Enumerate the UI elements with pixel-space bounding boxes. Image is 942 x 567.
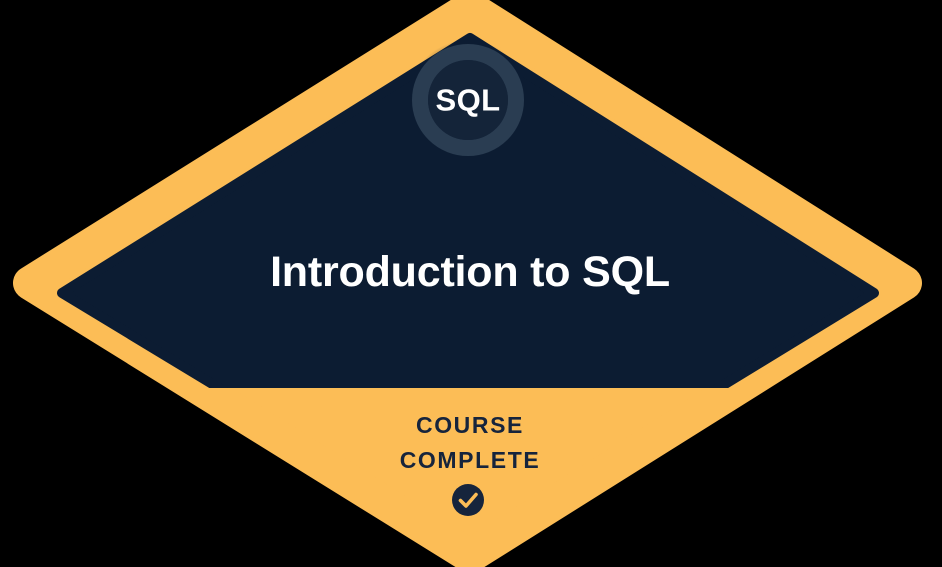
sql-tag-badge[interactable]: SQL — [408, 40, 528, 160]
course-title: Introduction to SQL — [270, 248, 670, 296]
status-line-primary: COURSE — [416, 412, 524, 438]
completion-check-badge — [452, 484, 484, 516]
check-icon-background — [452, 484, 484, 516]
sql-tag-label: SQL — [436, 83, 501, 118]
status-line-secondary: COMPLETE — [400, 447, 541, 473]
course-completion-badge[interactable]: SQL Introduction to SQL COURSE COMPLETE — [0, 0, 942, 567]
certificate-badge-canvas: SQL Introduction to SQL COURSE COMPLETE — [0, 0, 942, 567]
